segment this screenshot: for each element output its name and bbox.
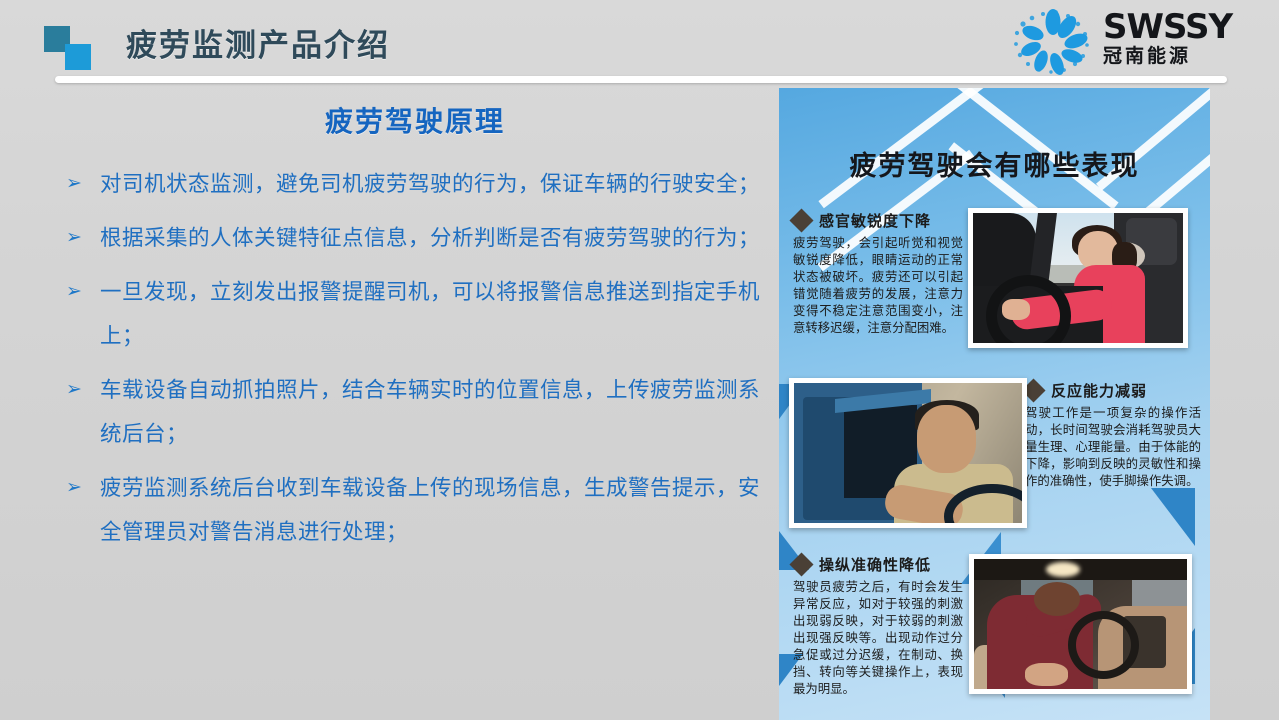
- logo-wordmark: SWSSY: [1103, 10, 1257, 44]
- info-block-3-title: 操纵准确性降低: [819, 554, 931, 575]
- logo-text-group: SWSSY 冠南能源: [1103, 10, 1257, 68]
- slide-root: 疲劳监测产品介绍: [0, 0, 1279, 720]
- header-decor-square-light: [65, 44, 91, 70]
- photo-tired-female-driver: [968, 208, 1188, 348]
- list-item-text: 车载设备自动抓拍照片，结合车辆实时的位置信息，上传疲劳监测系统后台；: [100, 368, 770, 456]
- list-item-text: 一旦发现，立刻发出报警提醒司机，可以将报警信息推送到指定手机上；: [100, 270, 770, 358]
- arrow-bullet-icon: ➢: [60, 216, 100, 260]
- logo-subtext: 冠南能源: [1103, 47, 1257, 68]
- infographic-title: 疲劳驾驶会有哪些表现: [779, 144, 1210, 183]
- bullet-list: ➢ 对司机状态监测，避免司机疲劳驾驶的行为，保证车辆的行驶安全； ➢ 根据采集的…: [60, 162, 770, 554]
- info-block-3-body: 驾驶员疲劳之后，有时会发生异常反应，如对于较强的刺激出现弱反映，对于较弱的刺激出…: [793, 579, 963, 698]
- info-block-1-header: 感官敏锐度下降: [793, 210, 963, 231]
- info-block-1-title: 感官敏锐度下降: [819, 210, 931, 231]
- diamond-bullet-icon: [789, 552, 813, 576]
- list-item: ➢ 对司机状态监测，避免司机疲劳驾驶的行为，保证车辆的行驶安全；: [60, 162, 770, 206]
- info-block-1-body: 疲劳驾驶，会引起听觉和视觉敏锐度降低，眼睛运动的正常状态被破坏。疲劳还可以引起错…: [793, 235, 963, 337]
- list-item: ➢ 一旦发现，立刻发出报警提醒司机，可以将报警信息推送到指定手机上；: [60, 270, 770, 358]
- list-item-text: 根据采集的人体关键特征点信息，分析判断是否有疲劳驾驶的行为；: [100, 216, 770, 260]
- info-block-2-header: 反应能力减弱: [1025, 380, 1201, 401]
- arrow-bullet-icon: ➢: [60, 466, 100, 510]
- water-droplet-flower-icon: [1007, 8, 1099, 76]
- company-logo: SWSSY 冠南能源: [1007, 6, 1257, 78]
- list-item: ➢ 根据采集的人体关键特征点信息，分析判断是否有疲劳驾驶的行为；: [60, 216, 770, 260]
- list-item: ➢ 车载设备自动抓拍照片，结合车辆实时的位置信息，上传疲劳监测系统后台；: [60, 368, 770, 456]
- slide-header: 疲劳监测产品介绍: [0, 0, 1279, 88]
- diamond-bullet-icon: [789, 208, 813, 232]
- info-block-2-title: 反应能力减弱: [1051, 380, 1147, 401]
- list-item-text: 疲劳监测系统后台收到车载设备上传的现场信息，生成警告提示，安全管理员对警告消息进…: [100, 466, 770, 554]
- arrow-bullet-icon: ➢: [60, 368, 100, 412]
- section-title: 疲劳驾驶原理: [60, 100, 770, 140]
- arrow-bullet-icon: ➢: [60, 270, 100, 314]
- list-item: ➢ 疲劳监测系统后台收到车载设备上传的现场信息，生成警告提示，安全管理员对警告消…: [60, 466, 770, 554]
- info-block-1: 感官敏锐度下降 疲劳驾驶，会引起听觉和视觉敏锐度降低，眼睛运动的正常状态被破坏。…: [793, 210, 963, 337]
- arrow-bullet-icon: ➢: [60, 162, 100, 206]
- info-block-3: 操纵准确性降低 驾驶员疲劳之后，有时会发生异常反应，如对于较强的刺激出现弱反映，…: [793, 554, 963, 698]
- info-block-3-header: 操纵准确性降低: [793, 554, 963, 575]
- info-block-2-body: 驾驶工作是一项复杂的操作活动，长时间驾驶会消耗驾驶员大量生理、心理能量。由于体能…: [1025, 405, 1201, 490]
- decor-triangle: [1151, 488, 1195, 546]
- left-content-area: 疲劳驾驶原理 ➢ 对司机状态监测，避免司机疲劳驾驶的行为，保证车辆的行驶安全； …: [60, 92, 770, 712]
- list-item-text: 对司机状态监测，避免司机疲劳驾驶的行为，保证车辆的行驶安全；: [100, 162, 770, 206]
- infographic-panel: 疲劳驾驶会有哪些表现 感官敏锐度下降 疲劳驾驶，会引起听觉和视觉敏锐度降低，眼睛…: [779, 88, 1210, 720]
- photo-driver-asleep-on-wheel: [969, 554, 1192, 694]
- info-block-2: 反应能力减弱 驾驶工作是一项复杂的操作活动，长时间驾驶会消耗驾驶员大量生理、心理…: [1025, 380, 1201, 490]
- photo-truck-driver: [789, 378, 1027, 528]
- page-title: 疲劳监测产品介绍: [126, 20, 390, 65]
